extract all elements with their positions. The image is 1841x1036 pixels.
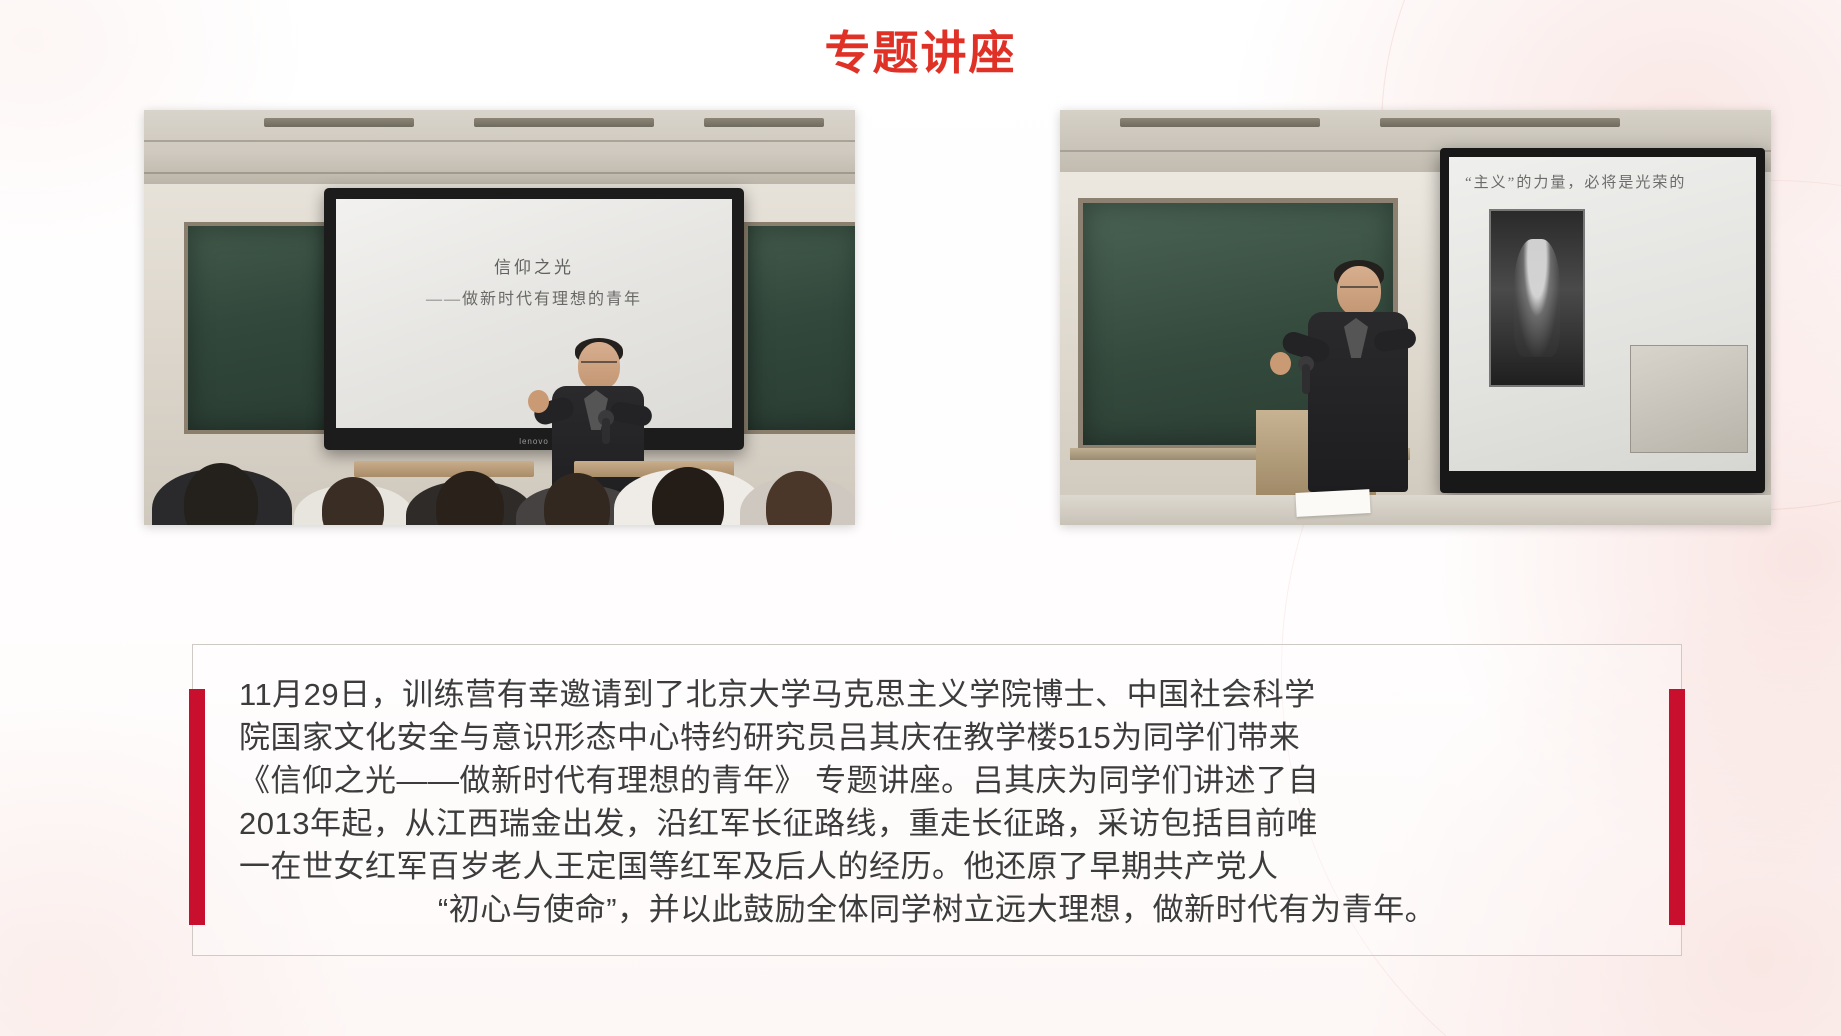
presentation-screen-right: “主义”的力量，必将是光荣的 [1440, 148, 1765, 493]
description-panel: 11月29日，训练营有幸邀请到了北京大学马克思主义学院博士、中国社会科学 院国家… [192, 644, 1682, 956]
ceiling [144, 110, 855, 188]
screen-subtitle-left: ——做新时代有理想的青年 [426, 285, 642, 309]
accent-bar-right [1669, 689, 1685, 925]
paragraph-line: 一在世女红军百岁老人王定国等红军及后人的经历。他还原了早期共产党人 [239, 845, 1635, 888]
accent-bar-left [189, 689, 205, 925]
slide-portrait-image [1489, 209, 1585, 387]
slide-canvas: 专题讲座 信仰之光 ——做新时代有理想的青年 lenovo [0, 0, 1841, 1036]
presentation-screen-surface-right: “主义”的力量，必将是光荣的 [1449, 157, 1756, 471]
screen-title-left: 信仰之光 [494, 255, 574, 281]
lecture-photo-left: 信仰之光 ——做新时代有理想的青年 lenovo [144, 110, 855, 525]
paragraph-line: 2013年起，从江西瑞金出发，沿红军长征路线，重走长征路，采访包括目前唯 [239, 802, 1635, 845]
paragraph-line: 院国家文化安全与意识形态中心特约研究员吕其庆在教学楼515为同学们带来 [239, 716, 1635, 759]
paragraph-line: “初心与使命”，并以此鼓励全体同学树立远大理想，做新时代有为青年。 [239, 888, 1635, 931]
classroom-scene-right: “主义”的力量，必将是光荣的 [1060, 110, 1771, 525]
description-paragraph: 11月29日，训练营有幸邀请到了北京大学马克思主义学院博士、中国社会科学 院国家… [239, 673, 1635, 931]
classroom-scene-left: 信仰之光 ——做新时代有理想的青年 lenovo [144, 110, 855, 525]
page-title: 专题讲座 [0, 26, 1841, 81]
paragraph-line: 11月29日，训练营有幸邀请到了北京大学马克思主义学院博士、中国社会科学 [239, 673, 1635, 716]
desk-papers [1295, 489, 1370, 517]
front-desk-right [1060, 495, 1771, 525]
lecture-photo-right: “主义”的力量，必将是光荣的 [1060, 110, 1771, 525]
audience-row [144, 390, 855, 525]
screen-title-right: “主义”的力量，必将是光荣的 [1465, 171, 1746, 192]
slide-secondary-image [1630, 345, 1748, 453]
paragraph-line: 《信仰之光——做新时代有理想的青年》 专题讲座。吕其庆为同学们讲述了自 [239, 759, 1635, 802]
speaker-figure-right [1292, 260, 1420, 492]
